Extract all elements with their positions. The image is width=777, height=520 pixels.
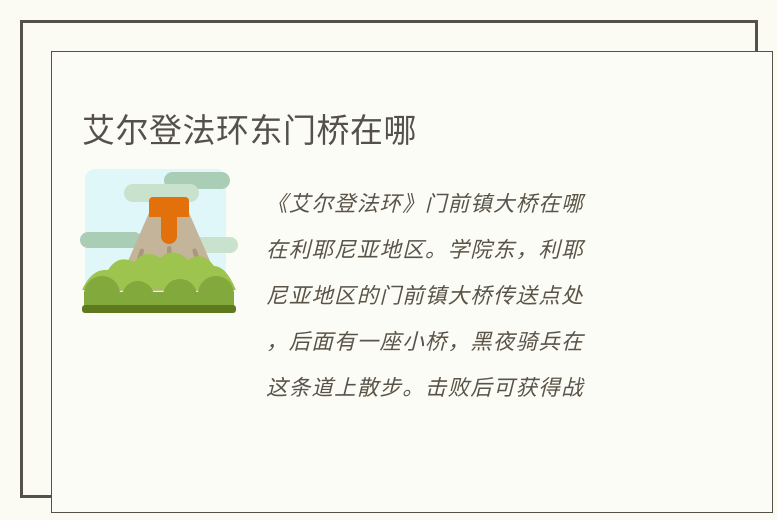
body-line: 尼亚地区的门前镇大桥传送点处	[266, 274, 762, 320]
volcano-icon	[80, 164, 238, 322]
body-line: 《艾尔登法环》门前镇大桥在哪	[266, 182, 762, 228]
inner-frame-border: 艾尔登法环东门桥在哪	[51, 51, 773, 513]
body-line: ，后面有一座小桥，黑夜骑兵在	[266, 320, 762, 366]
article-body-text: 《艾尔登法环》门前镇大桥在哪 在利耶尼亚地区。学院东，利耶 尼亚地区的门前镇大桥…	[266, 162, 762, 412]
page-root: 艾尔登法环东门桥在哪	[0, 0, 777, 520]
body-line: 在利耶尼亚地区。学院东，利耶	[266, 228, 762, 274]
body-line: 这条道上散步。击败后可获得战	[266, 366, 762, 412]
page-title: 艾尔登法环东门桥在哪	[82, 110, 417, 151]
volcano-illustration	[80, 164, 238, 322]
article-content-row: 《艾尔登法环》门前镇大桥在哪 在利耶尼亚地区。学院东，利耶 尼亚地区的门前镇大桥…	[80, 162, 762, 412]
outer-frame-border: 艾尔登法环东门桥在哪	[20, 20, 758, 498]
